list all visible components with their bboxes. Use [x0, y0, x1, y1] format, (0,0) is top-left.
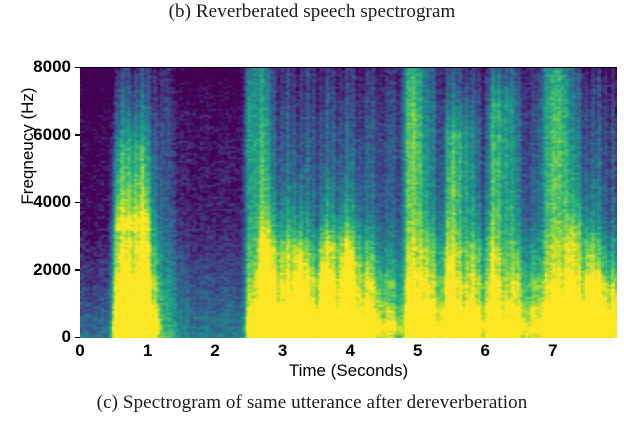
- y-axis-tick-mark: [75, 337, 80, 339]
- y-axis-label: Freqneucy (Hz): [18, 0, 38, 296]
- x-axis-tick-label: 4: [330, 342, 370, 359]
- y-axis-tick-mark: [75, 67, 80, 69]
- x-axis-tick-label: 7: [533, 342, 573, 359]
- y-axis-tick-mark: [75, 202, 80, 204]
- x-axis-tick-label: 1: [128, 342, 168, 359]
- x-axis-tick-label: 0: [60, 342, 100, 359]
- y-axis-tick-mark: [75, 134, 80, 136]
- x-axis-tick-label: 2: [195, 342, 235, 359]
- x-axis-tick-label: 6: [465, 342, 505, 359]
- x-axis-tick-label: 5: [398, 342, 438, 359]
- figure-caption-bottom: (c) Spectrogram of same utterance after …: [0, 392, 624, 414]
- y-axis-tick-mark: [75, 269, 80, 271]
- x-axis-label: Time (Seconds): [80, 361, 617, 381]
- spectrogram-figure: (b) Reverberated speech spectrogram 0200…: [0, 0, 624, 424]
- x-axis-tick-label: 3: [263, 342, 303, 359]
